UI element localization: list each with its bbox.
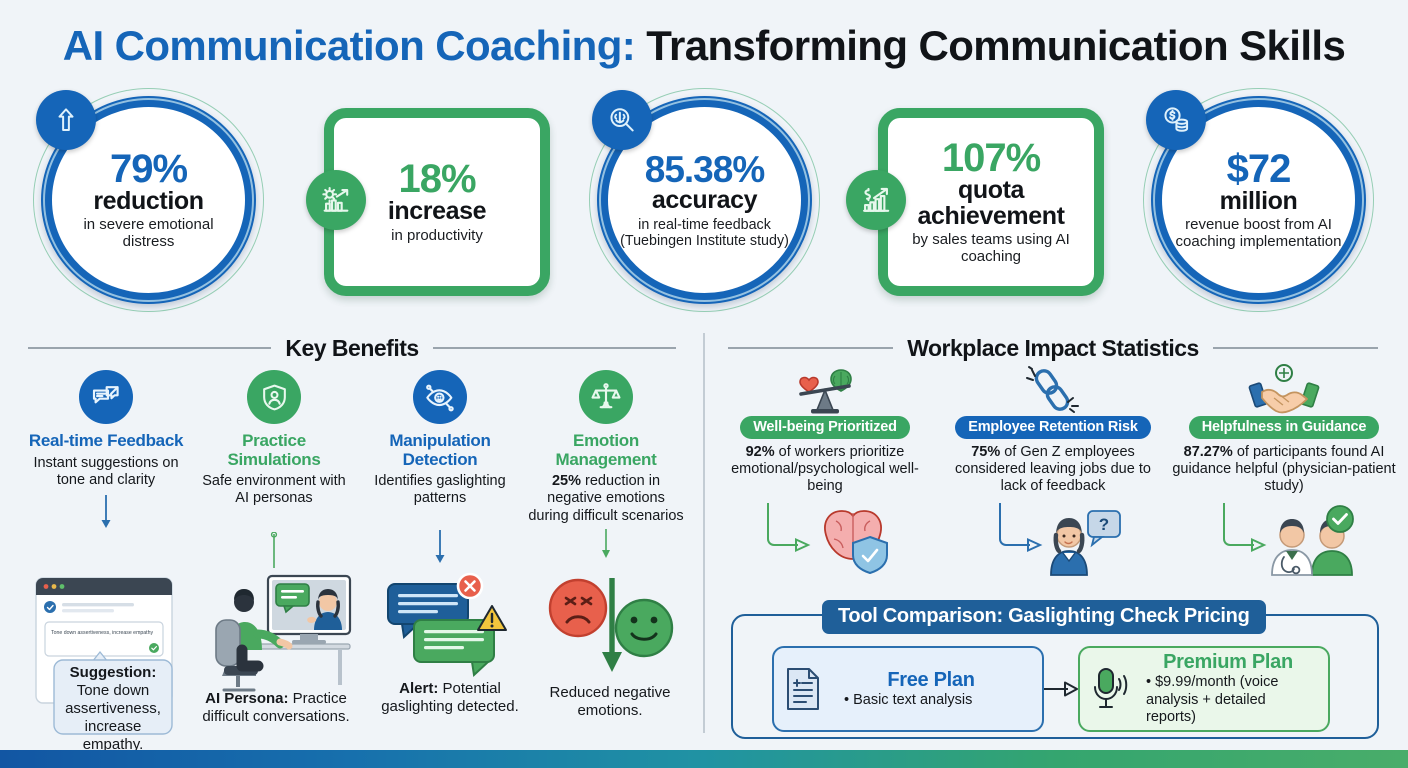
title-rest: Transforming Communication Skills (635, 22, 1345, 69)
divider-left (728, 347, 893, 349)
plan-name: Premium Plan (1138, 651, 1318, 674)
benefit-desc: Identifies gaslighting patterns (360, 473, 520, 507)
caption-bold: Alert: (399, 680, 438, 697)
top-stats-row: 79% reduction in severe emotional distre… (0, 88, 1408, 303)
stat-detail: revenue boost from AI coaching implement… (1162, 217, 1355, 251)
scales-balance-icon (579, 370, 633, 424)
free-plan-info: Free Plan • Basic text analysis (830, 669, 1032, 709)
title-highlight: AI Communication Coaching: (63, 22, 635, 69)
stat-value: $72 (1227, 149, 1291, 189)
benefit-illustration-1: Tone down assertiveness, increase empath… (34, 572, 179, 737)
stat-value: 107% (942, 138, 1040, 178)
benefit-desc: 25% reduction in negative emotions durin… (526, 473, 686, 524)
impact-result-1 (716, 499, 934, 577)
up-arrow-icon (36, 90, 96, 150)
stat-card-reduction: 79% reduction in severe emotional distre… (32, 90, 264, 304)
dollar-growth-chart-icon (846, 170, 906, 230)
plan-arrow-icon (1044, 678, 1078, 700)
plan-card-premium[interactable]: Premium Plan • $9.99/month (voice analys… (1078, 646, 1330, 732)
plan-features: • Basic text analysis (830, 692, 1032, 709)
premium-plan-info: Premium Plan • $9.99/month (voice analys… (1138, 651, 1318, 726)
plan-features: • $9.99/month (voice analysis + detailed… (1138, 674, 1318, 726)
stat-label: increase (388, 199, 486, 225)
impact-wellbeing: Well-being Prioritized 92% of workers pr… (716, 364, 934, 577)
impact-stat-text: 87.27% of participants found AI guidance… (1170, 444, 1398, 495)
arrow-down-blue-icon (26, 495, 186, 529)
page-title: AI Communication Coaching: Transforming … (0, 22, 1408, 70)
arrow-down-green-icon (526, 529, 686, 563)
microphone-icon (1090, 665, 1130, 713)
impact-stat-value: 87.27% (1184, 444, 1233, 460)
benefit-real-time-feedback: Real-time Feedback Instant suggestions o… (26, 370, 186, 529)
benefit-title: Practice Simulations (194, 432, 354, 469)
benefit-manipulation-detection: Manipulation Detection Identifies gaslig… (360, 370, 520, 564)
svg-text:Tone down assertiveness, incre: Tone down assertiveness, increase empath… (51, 630, 153, 636)
benefit-practice-simulations: Practice Simulations Safe environment wi… (194, 370, 354, 568)
stat-value: 79% (110, 149, 187, 189)
benefit-illustration-4: Reduced negative emotions. (540, 572, 680, 732)
stat-label: accuracy (652, 188, 757, 214)
benefit-desc: Safe environment with AI personas (194, 473, 354, 507)
divider-left (28, 347, 271, 349)
stat-card-quota: 107% quota achievement by sales teams us… (872, 108, 1104, 296)
status-badge: Well-being Prioritized (740, 416, 910, 439)
arrow-down-blue-icon (360, 530, 520, 564)
stat-detail: by sales teams using AI coaching (888, 232, 1094, 266)
impact-result-2: ? (942, 499, 1164, 577)
benefit-title: Manipulation Detection (360, 432, 520, 469)
arrow-down-green-icon (194, 532, 354, 568)
stat-card-increase: 18% increase in productivity (318, 108, 550, 296)
benefit-illustration-3: Alert: Potential gaslighting detected. (380, 572, 520, 732)
plan-card-free[interactable]: Free Plan • Basic text analysis (772, 646, 1044, 732)
impact-retention: Employee Retention Risk 75% of Gen Z emp… (942, 364, 1164, 577)
stat-detail: in real-time feedback (Tuebingen Institu… (608, 217, 801, 249)
impact-stat-text: 92% of workers prioritize emotional/psyc… (716, 444, 934, 495)
benefit-desc: Instant suggestions on tone and clarity (26, 455, 186, 489)
benefit-illustration-2: AI Persona: Practice difficult conversat… (196, 572, 356, 732)
divider-right (1213, 347, 1378, 349)
bottom-gradient-bar (0, 750, 1408, 768)
document-text-icon (784, 666, 822, 712)
caption-bold: AI Persona: (205, 690, 288, 707)
magnifier-brain-icon (592, 90, 652, 150)
coins-dollar-icon (1146, 90, 1206, 150)
stat-card-accuracy: 85.38% accuracy in real-time feedback (T… (588, 90, 820, 304)
benefit-caption-3: Alert: Potential gaslighting detected. (380, 680, 520, 716)
stat-value: 18% (398, 159, 475, 199)
impact-stat-value: 92% (746, 444, 775, 460)
caption-text: Tone down assertiveness, increase empath… (65, 682, 161, 753)
divider-right (433, 347, 676, 349)
stat-value: 85.38% (645, 151, 765, 188)
key-benefits-header: Key Benefits (28, 335, 676, 361)
status-badge: Helpfulness in Guidance (1189, 416, 1380, 439)
impact-stat-text: 75% of Gen Z employees considered leavin… (942, 444, 1164, 495)
benefit-caption-4: Reduced negative emotions. (540, 684, 680, 720)
vertical-divider (703, 333, 705, 733)
stat-detail: in severe emotional distress (52, 217, 245, 251)
handshake-icon (1170, 364, 1398, 416)
workplace-impact-header: Workplace Impact Statistics (728, 335, 1378, 361)
stat-label: million (1220, 189, 1298, 215)
shield-person-icon (247, 370, 301, 424)
benefit-title: Real-time Feedback (26, 432, 186, 451)
stat-rect-4: 107% quota achievement by sales teams us… (878, 108, 1104, 296)
status-badge: Employee Retention Risk (955, 416, 1150, 439)
caption-text: Reduced negative emotions. (550, 684, 671, 719)
impact-stat-value: 75% (971, 444, 1000, 460)
broken-chain-icon (942, 364, 1164, 416)
eye-scan-icon (413, 370, 467, 424)
stat-card-revenue: $72 million revenue boost from AI coachi… (1142, 90, 1374, 304)
benefit-title: Emotion Management (526, 432, 686, 469)
heart-brain-scale-icon (716, 364, 934, 416)
tool-comparison-title: Tool Comparison: Gaslighting Check Prici… (822, 600, 1266, 634)
caption-bold: Suggestion: (70, 664, 157, 681)
stat-label: quota achievement (888, 178, 1094, 229)
svg-text:?: ? (1099, 515, 1109, 534)
benefit-caption-2: AI Persona: Practice difficult conversat… (196, 690, 356, 726)
stat-detail: in productivity (383, 228, 491, 245)
stat-label: reduction (93, 189, 203, 215)
impact-result-3 (1170, 499, 1398, 577)
impact-helpfulness: Helpfulness in Guidance 87.27% of partic… (1170, 364, 1398, 577)
gear-chart-growth-icon (306, 170, 366, 230)
benefit-desc-bold: 25% (552, 473, 581, 489)
benefit-caption-1: Suggestion: Tone down assertiveness, inc… (56, 664, 170, 754)
section-title: Key Benefits (285, 335, 418, 362)
benefit-emotion-management: Emotion Management 25% reduction in nega… (526, 370, 686, 563)
plan-name: Free Plan (830, 669, 1032, 692)
section-title: Workplace Impact Statistics (907, 335, 1199, 362)
chat-feedback-icon (79, 370, 133, 424)
